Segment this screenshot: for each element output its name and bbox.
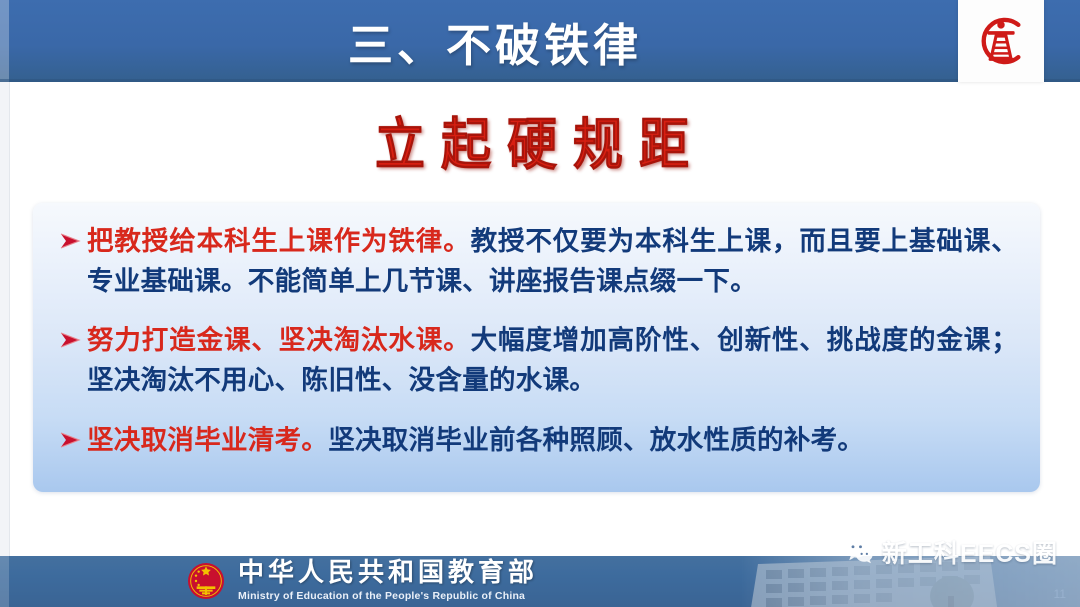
slide-header-title: 三、不破铁律: [0, 0, 1080, 82]
watermark-label: 新工科EECS圈: [882, 534, 1058, 570]
page-number: 11: [1054, 587, 1066, 601]
bullet-highlight: 把教授给本科生上课作为铁律。: [87, 226, 471, 256]
bullet-highlight: 努力打造金课、坚决淘汰水课。: [87, 325, 471, 355]
ministry-of-education-branding: 中华人民共和国教育部 Ministry of Education of the …: [186, 560, 538, 602]
logo-plaque: [958, 0, 1044, 82]
bullet-item: 把教授给本科生上课作为铁律。教授不仅要为本科生上课，而且要上基础课、专业基础课。…: [53, 213, 1018, 302]
presentation-slide: 三、不破铁律 立起硬规距 把教授: [0, 0, 1080, 607]
red-arrow-bullet-icon: [53, 420, 87, 450]
wechat-icon: [844, 537, 874, 567]
bullet-body: 坚决取消毕业前各种照顾、放水性质的补考。: [328, 425, 864, 455]
ministry-name-en: Ministry of Education of the People's Re…: [238, 591, 538, 602]
bullet-highlight: 坚决取消毕业清考。: [87, 425, 328, 455]
footer-left-accent: [0, 556, 9, 607]
bullet-text: 把教授给本科生上课作为铁律。教授不仅要为本科生上课，而且要上基础课、专业基础课。…: [87, 221, 1018, 302]
university-tower-emblem-icon: [970, 10, 1032, 72]
red-arrow-bullet-icon: [53, 221, 87, 251]
channel-watermark: 新工科EECS圈: [844, 534, 1058, 570]
content-panel: 把教授给本科生上课作为铁律。教授不仅要为本科生上课，而且要上基础课、专业基础课。…: [33, 203, 1040, 492]
bullet-text: 坚决取消毕业清考。坚决取消毕业前各种照顾、放水性质的补考。: [87, 420, 1018, 460]
bullet-item: 坚决取消毕业清考。坚决取消毕业前各种照顾、放水性质的补考。: [53, 402, 1018, 460]
ministry-text-block: 中华人民共和国教育部 Ministry of Education of the …: [238, 560, 538, 602]
ministry-name-cn: 中华人民共和国教育部: [238, 560, 538, 586]
bullet-item: 努力打造金课、坚决淘汰水课。大幅度增加高阶性、创新性、挑战度的金课；坚决淘汰不用…: [53, 304, 1018, 401]
china-national-emblem-icon: [186, 561, 226, 601]
slide-subtitle: 立起硬规距: [0, 100, 1080, 181]
bullet-text: 努力打造金课、坚决淘汰水课。大幅度增加高阶性、创新性、挑战度的金课；坚决淘汰不用…: [87, 320, 1018, 401]
red-arrow-bullet-icon: [53, 320, 87, 350]
